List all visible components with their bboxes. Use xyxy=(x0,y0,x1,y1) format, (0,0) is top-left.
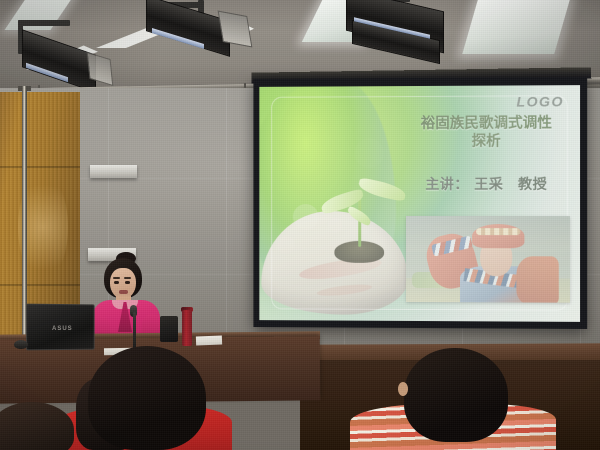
slide-title: 裕固族民歌调式调性 探析 xyxy=(398,115,575,151)
stage-light-right xyxy=(318,0,458,72)
audience-member-left-head xyxy=(88,346,206,450)
presenter-eye-right xyxy=(125,281,130,284)
lecture-hall-photo: LOGO 裕固族民歌调式调性 探析 主讲： 王采 教授 xyxy=(0,0,600,450)
slide-logo-text: LOGO xyxy=(517,93,564,109)
audience-member-left-back-head xyxy=(0,402,74,450)
presenter-eye-left xyxy=(114,281,119,284)
microphone-stem xyxy=(133,312,136,350)
slide-presenter-line: 主讲： 王采 教授 xyxy=(396,174,577,194)
presenter-brow-left xyxy=(113,277,120,279)
inset-projector-veil xyxy=(406,216,570,303)
computer-mouse xyxy=(14,340,28,349)
desk-papers xyxy=(196,336,222,346)
thermos-red xyxy=(182,310,192,346)
audience-member-right-head xyxy=(404,348,508,442)
presenter-brow-right xyxy=(124,277,131,279)
wood-seam-1 xyxy=(0,166,80,168)
wall-ledge-upper xyxy=(90,165,137,178)
projection-screen: LOGO 裕固族民歌调式调性 探析 主讲： 王采 教授 xyxy=(253,77,587,329)
laptop-brand-text: ASUS xyxy=(52,326,73,332)
desk-dark-object xyxy=(160,316,178,342)
slide-title-line-2: 探析 xyxy=(398,133,575,151)
slide-inset-photo xyxy=(406,216,570,303)
slide-title-line-1: 裕固族民歌调式调性 xyxy=(398,115,575,133)
presenter-face xyxy=(110,268,136,299)
stage-light-center xyxy=(138,0,262,70)
projected-slide: LOGO 裕固族民歌调式调性 探析 主讲： 王采 教授 xyxy=(259,85,580,322)
wood-seam-2 xyxy=(0,284,80,286)
presenter-mouth xyxy=(119,290,128,294)
audience-member-right-ear xyxy=(398,382,408,396)
